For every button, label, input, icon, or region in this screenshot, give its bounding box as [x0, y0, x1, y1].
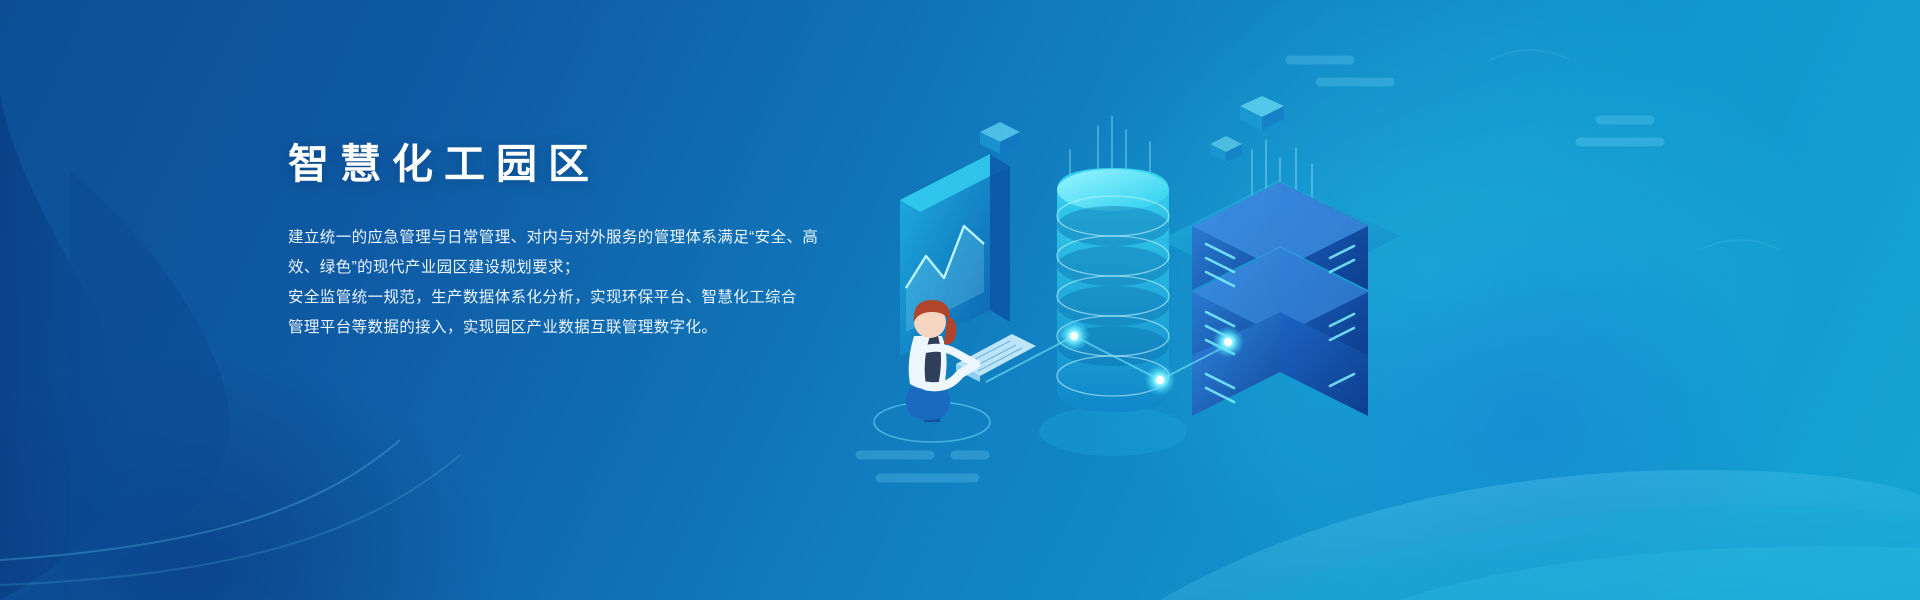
hero-text-block: 智慧化工园区 建立统一的应急管理与日常管理、对内与对外服务的管理体系满足“安全、…	[288, 140, 908, 343]
description-line-3: 安全监管统一规范，生产数据体系化分析，实现环保平台、智慧化工综合	[288, 283, 908, 313]
server-rack-tower	[1160, 180, 1400, 416]
hero-banner: 智慧化工园区 建立统一的应急管理与日常管理、对内与对外服务的管理体系满足“安全、…	[0, 0, 1920, 600]
floating-cubes	[980, 96, 1284, 162]
description-line-2: 效、绿色”的现代产业园区建设规划要求；	[288, 253, 908, 283]
description-line-4: 管理平台等数据的接入，实现园区产业数据互联管理数字化。	[288, 313, 908, 343]
isometric-data-center-illustration	[860, 30, 1420, 460]
cylindrical-data-stack	[1039, 168, 1187, 456]
page-title: 智慧化工园区	[288, 140, 908, 189]
description-line-1: 建立统一的应急管理与日常管理、对内与对外服务的管理体系满足“安全、高	[288, 223, 908, 253]
